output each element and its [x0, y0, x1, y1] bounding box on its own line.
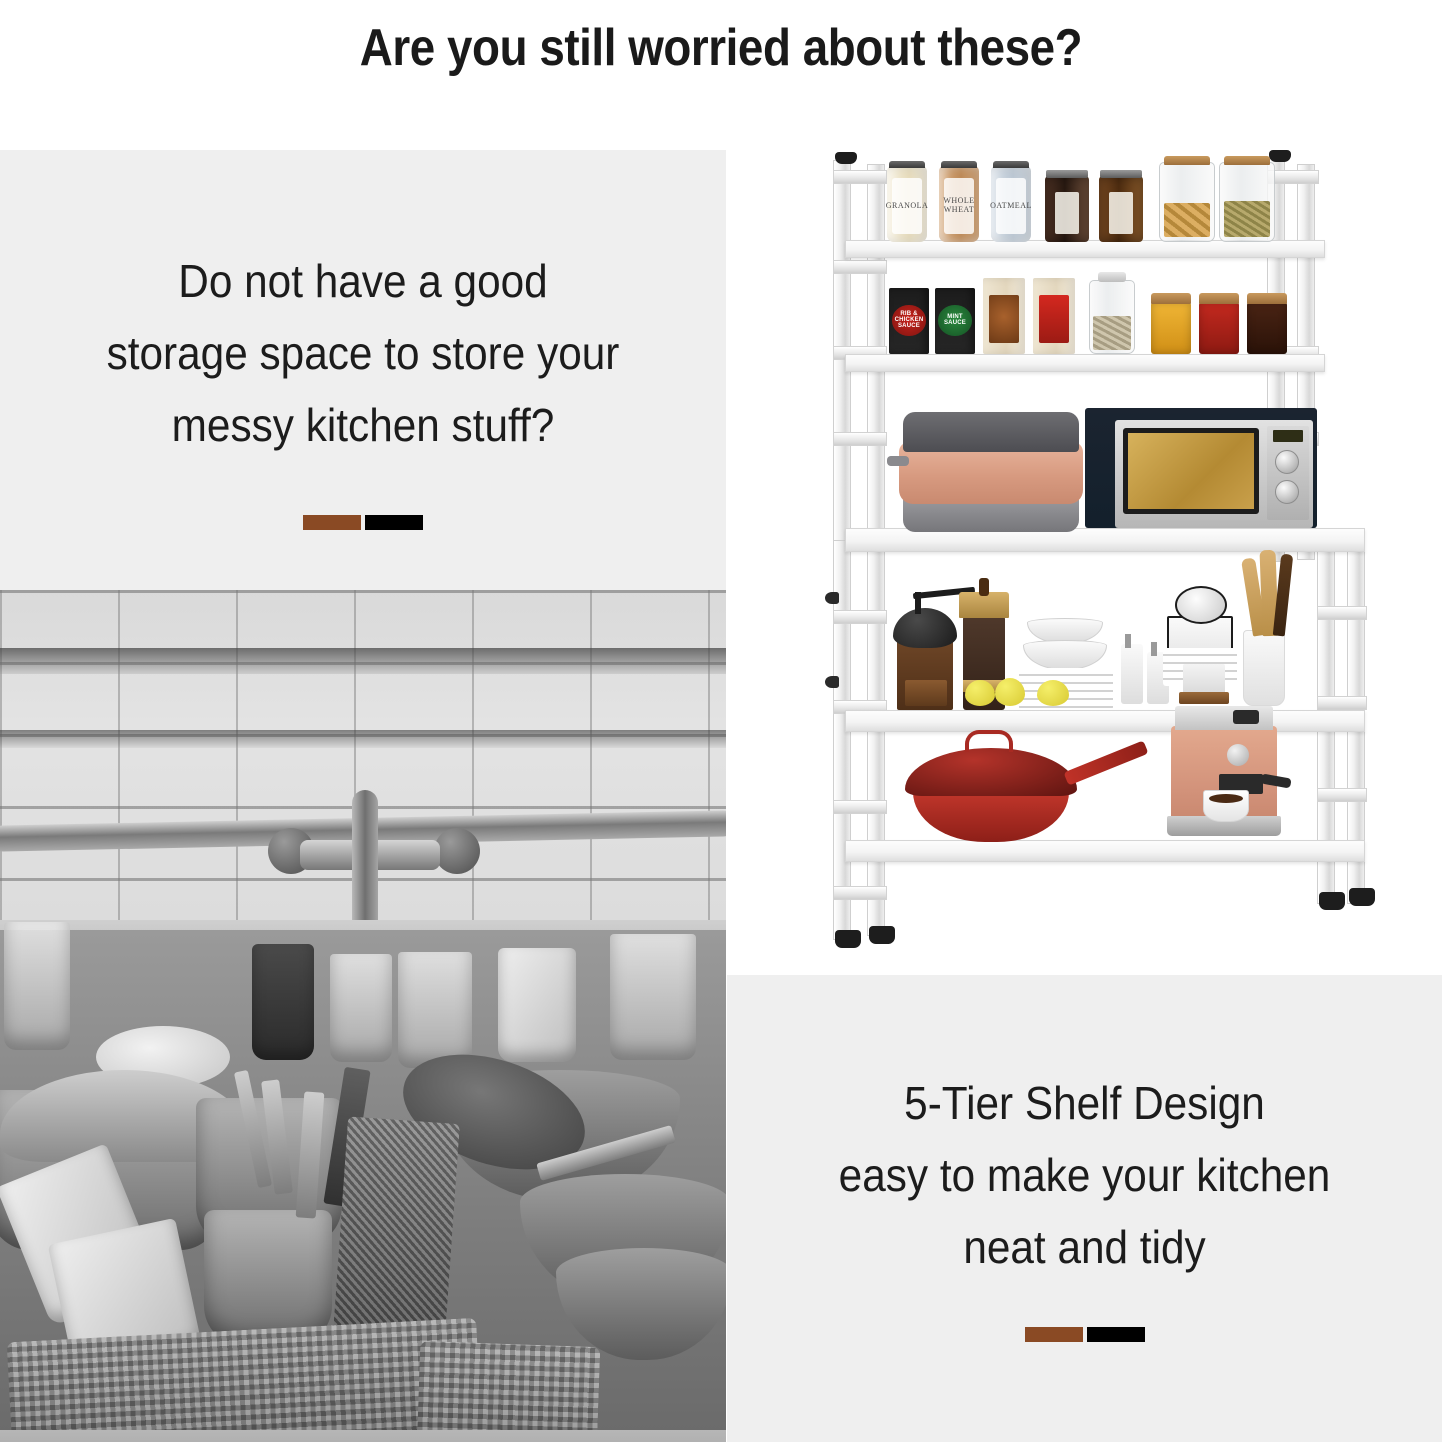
cream-box-spice — [1033, 278, 1075, 354]
pasta-fill — [1164, 203, 1210, 237]
dispenser-pump — [1151, 642, 1157, 656]
rice-cooker-lid — [903, 412, 1079, 452]
french-press-knob — [979, 578, 989, 596]
main-post-front-left — [867, 544, 885, 936]
preserve-jar-red — [1199, 302, 1239, 354]
solution-copy-line-2: easy to make your kitchen — [756, 1139, 1414, 1211]
foot-back-right — [1319, 892, 1345, 910]
canister-label: GRANOLA — [892, 178, 922, 234]
coffee-grinder-shaft — [915, 592, 921, 614]
jar-lid-metal — [1046, 170, 1088, 178]
sauce-label: MINT SAUCE — [938, 305, 972, 335]
box-label — [989, 295, 1019, 344]
canister-lid — [889, 161, 925, 168]
jar-lid-wood — [1247, 293, 1287, 304]
main-rung-right-3 — [1317, 788, 1367, 802]
grain-fill — [1224, 201, 1270, 237]
hutch-cap-right — [1269, 150, 1291, 162]
shelf-board-tier-4 — [845, 710, 1365, 732]
frying-pan-lid — [905, 748, 1077, 796]
dirty-mug-dark — [252, 944, 314, 1060]
jar-lid-wood — [1199, 293, 1239, 304]
dirty-glass — [4, 922, 70, 1050]
divider-bar-brown — [303, 515, 361, 530]
faucet-valve-right — [434, 828, 480, 874]
solution-copy-line-1: 5-Tier Shelf Design — [756, 1067, 1414, 1139]
jar-lid-wood — [1151, 293, 1191, 304]
microwave-window — [1123, 428, 1259, 514]
espresso-coffee-surface — [1209, 794, 1243, 803]
jar-label — [1109, 192, 1133, 234]
hutch-rung-left-4 — [833, 432, 887, 446]
canister-oatmeal: OATMEAL — [991, 166, 1031, 242]
wall-grime-lower — [0, 730, 726, 748]
dirty-bowl — [556, 1248, 726, 1360]
canister-lid — [941, 161, 977, 168]
problem-copy-panel: Do not have a good storage space to stor… — [0, 150, 726, 590]
jar-lid-metal — [1100, 170, 1142, 178]
main-rung-right-2 — [1317, 696, 1367, 710]
main-rung-left-3 — [833, 800, 887, 814]
canister-label: OATMEAL — [996, 178, 1026, 234]
hutch-rung-left-2 — [833, 260, 887, 274]
divider-bar-black — [365, 515, 423, 530]
jar-lid-wood — [1224, 156, 1270, 165]
solution-divider — [1025, 1327, 1145, 1342]
glass-jar-grain — [1219, 162, 1275, 242]
sauce-label: RIB & CHICKEN SAUCE — [892, 305, 926, 335]
shelf-board-tier-5 — [845, 840, 1365, 862]
lemon — [965, 680, 995, 706]
hutch-cap-left — [835, 152, 857, 164]
shelf-board-tier-2 — [845, 354, 1325, 372]
dirty-glass — [398, 952, 472, 1068]
box-label — [1039, 295, 1069, 344]
messy-kitchen-photo — [0, 590, 726, 1442]
microwave-knob-upper — [1275, 450, 1299, 474]
sauce-bottle-rib-chicken: RIB & CHICKEN SAUCE — [889, 288, 929, 354]
solution-copy-block: 5-Tier Shelf Design easy to make your ki… — [727, 1067, 1442, 1283]
utensil-crock — [1243, 630, 1285, 706]
bowl-stacked-lower — [1023, 640, 1107, 670]
divider-bar-brown — [1025, 1327, 1083, 1342]
main-rung-left-4 — [833, 886, 887, 900]
wall-grime-upper — [0, 648, 726, 674]
divider-bar-black — [1087, 1327, 1145, 1342]
microwave-display — [1273, 430, 1303, 442]
canister-label: WHOLE WHEAT — [944, 178, 974, 234]
dirty-dish-pile — [0, 930, 726, 1442]
solution-copy-line-3: neat and tidy — [756, 1211, 1414, 1283]
rice-cooker-handle — [887, 456, 909, 466]
dirty-mug — [498, 948, 576, 1062]
side-hook — [825, 592, 839, 604]
jar-label — [1055, 192, 1079, 234]
foot-front-left — [835, 930, 861, 948]
shelf-product-photo: GRANOLA WHOLE WHEAT OATMEAL RIB & CHICKE… — [727, 140, 1442, 975]
grain-fill — [1093, 316, 1131, 350]
problem-copy-line-1: Do not have a good — [29, 245, 697, 317]
spice-grinder-base — [1179, 692, 1229, 704]
preserve-jar-dark — [1247, 302, 1287, 354]
lemon — [1037, 680, 1069, 706]
problem-copy-line-3: messy kitchen stuff? — [29, 389, 697, 461]
pot-lid-enamel — [1175, 586, 1227, 624]
solution-copy-panel: 5-Tier Shelf Design easy to make your ki… — [727, 975, 1442, 1442]
coffee-grinder-drawer — [905, 680, 947, 706]
page-title: Are you still worried about these? — [87, 18, 1356, 78]
jar-lid-wood — [1164, 156, 1210, 165]
main-rung-left-1 — [833, 610, 887, 624]
foot-front-right — [1349, 888, 1375, 906]
dirty-glass — [330, 954, 392, 1062]
sauce-bottle-mint: MINT SAUCE — [935, 288, 975, 354]
problem-divider — [303, 515, 423, 530]
espresso-lever — [1233, 710, 1259, 724]
cream-box-cocoa — [983, 278, 1025, 354]
main-rung-right-1 — [1317, 606, 1367, 620]
problem-copy-block: Do not have a good storage space to stor… — [0, 245, 726, 461]
frying-pan-lid-handle — [965, 730, 1013, 752]
shelf-board-tier-1 — [845, 240, 1325, 258]
canister-lid — [993, 161, 1029, 168]
dispenser-pump — [1125, 634, 1131, 648]
side-hook — [825, 676, 839, 688]
microwave-knob-lower — [1275, 480, 1299, 504]
dark-preserve-jar — [1045, 176, 1089, 242]
foot-back-left — [869, 926, 895, 944]
problem-copy-line-2: storage space to store your — [29, 317, 697, 389]
canister-whole-wheat: WHOLE WHEAT — [939, 166, 979, 242]
lemon — [995, 678, 1025, 706]
glass-jar-pasta — [1159, 162, 1215, 242]
scrub-sponge — [332, 1116, 460, 1353]
clamp-lid — [1098, 272, 1126, 282]
dish-cloth — [416, 1341, 601, 1442]
clamp-jar-grain — [1089, 280, 1135, 354]
hutch-rung-left-top — [833, 170, 887, 184]
canister-granola: GRANOLA — [887, 166, 927, 242]
dark-preserve-jar — [1099, 176, 1143, 242]
frying-pan-handle — [1064, 740, 1149, 785]
espresso-pressure-gauge — [1227, 744, 1249, 766]
preserve-jar-honey — [1151, 302, 1191, 354]
coffee-grinder-dome — [893, 608, 957, 648]
floor-strip — [0, 1430, 726, 1442]
soap-dispenser — [1121, 644, 1143, 704]
dirty-glass — [610, 934, 696, 1060]
